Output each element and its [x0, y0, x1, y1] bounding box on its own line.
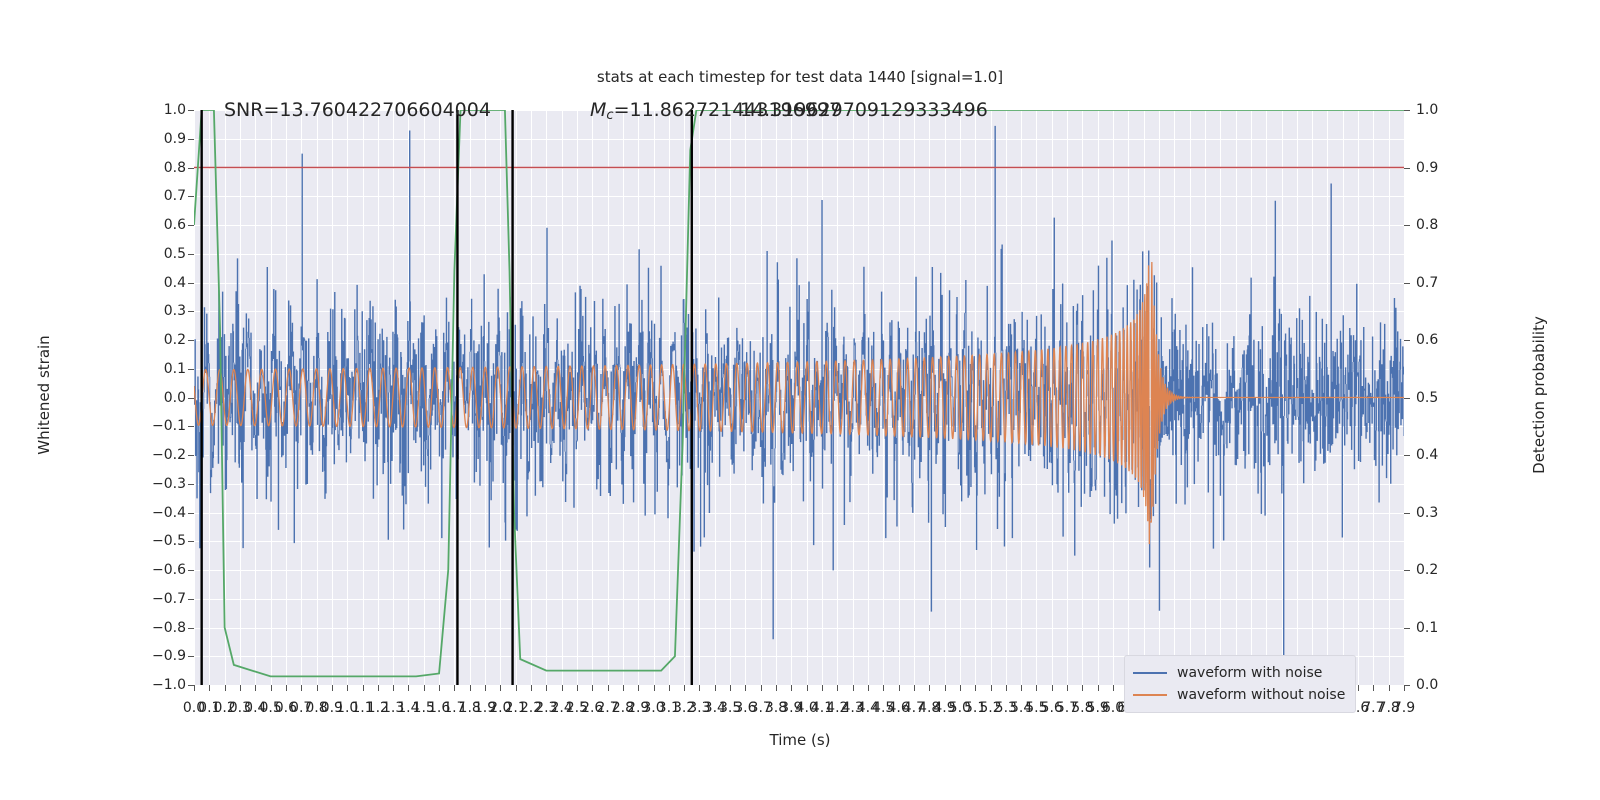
- x-tick-mark: [1113, 685, 1114, 691]
- legend-item-waveform-without-noise: waveform without noise: [1133, 684, 1345, 706]
- y-tick-label-left: −0.2: [152, 447, 186, 463]
- y-tick-label-left: 0.0: [164, 390, 186, 406]
- y-tick-label-right: 0.4: [1416, 447, 1438, 463]
- x-tick-mark: [470, 685, 471, 691]
- x-tick-mark: [669, 685, 670, 691]
- y-tick-label-right: 0.7: [1416, 275, 1438, 291]
- x-tick-mark: [975, 685, 976, 691]
- x-tick-mark: [317, 685, 318, 691]
- y-tick-label-left: 1.0: [164, 102, 186, 118]
- x-tick-mark: [562, 685, 563, 691]
- x-tick-mark: [378, 685, 379, 691]
- y-tick-mark: [1404, 283, 1410, 284]
- x-axis-label: Time (s): [0, 731, 1600, 749]
- x-tick-mark: [914, 685, 915, 691]
- plot-canvas: [194, 110, 1404, 685]
- y-tick-mark: [188, 541, 194, 542]
- x-tick-mark: [991, 685, 992, 691]
- legend-swatch-orange-line-icon: [1133, 694, 1167, 696]
- x-tick-mark: [577, 685, 578, 691]
- x-tick-mark: [654, 685, 655, 691]
- x-tick-mark: [301, 685, 302, 691]
- mc-subscript: c: [606, 108, 613, 123]
- y-tick-mark: [188, 455, 194, 456]
- y-tick-label-left: −0.5: [152, 533, 186, 549]
- y-tick-label-left: −0.7: [152, 591, 186, 607]
- x-tick-mark: [638, 685, 639, 691]
- y-axis-right-label: Detection probability: [1530, 265, 1548, 525]
- y-tick-label-left: −1.0: [152, 677, 186, 693]
- y-tick-label-right: 1.0: [1416, 102, 1438, 118]
- x-tick-mark: [363, 685, 364, 691]
- y-tick-mark: [1404, 398, 1410, 399]
- y-tick-label-left: 0.8: [164, 160, 186, 176]
- noise-trace: [194, 126, 1404, 685]
- x-tick-mark: [791, 685, 792, 691]
- y-tick-mark: [188, 513, 194, 514]
- y-tick-label-left: −0.9: [152, 648, 186, 664]
- y-tick-label-left: 0.9: [164, 131, 186, 147]
- y-tick-mark: [1404, 168, 1410, 169]
- x-tick-mark: [761, 685, 762, 691]
- x-tick-mark: [546, 685, 547, 691]
- x-tick-mark: [868, 685, 869, 691]
- overlap-annotation: 14.319629709129333496: [740, 99, 988, 121]
- x-tick-mark: [745, 685, 746, 691]
- y-tick-mark: [1404, 455, 1410, 456]
- y-tick-label-right: 0.6: [1416, 332, 1438, 348]
- y-tick-label-right: 0.5: [1416, 390, 1438, 406]
- x-tick-mark: [424, 685, 425, 691]
- y-tick-mark: [188, 225, 194, 226]
- x-tick-mark: [1021, 685, 1022, 691]
- x-tick-mark: [286, 685, 287, 691]
- x-tick-mark: [271, 685, 272, 691]
- plot-area: [194, 110, 1404, 685]
- x-tick-mark: [853, 685, 854, 691]
- legend: waveform with noise waveform without noi…: [1124, 655, 1356, 713]
- legend-item-waveform-with-noise: waveform with noise: [1133, 662, 1345, 684]
- x-tick-mark: [715, 685, 716, 691]
- y-tick-label-left: −0.6: [152, 562, 186, 578]
- legend-label: waveform without noise: [1177, 687, 1345, 703]
- x-tick-mark: [592, 685, 593, 691]
- y-tick-label-left: −0.1: [152, 418, 186, 434]
- mc-equals: =: [614, 99, 630, 121]
- y-tick-mark: [188, 426, 194, 427]
- x-tick-mark: [699, 685, 700, 691]
- x-tick-mark: [1373, 685, 1374, 691]
- x-tick-mark: [929, 685, 930, 691]
- x-tick-mark: [485, 685, 486, 691]
- y-tick-label-right: 0.1: [1416, 620, 1438, 636]
- x-tick-mark: [608, 685, 609, 691]
- x-tick-mark: [255, 685, 256, 691]
- x-tick-mark: [960, 685, 961, 691]
- y-tick-label-left: 0.4: [164, 275, 186, 291]
- x-tick-mark: [1036, 685, 1037, 691]
- matplotlib-figure: stats at each timestep for test data 144…: [0, 0, 1600, 800]
- x-tick-mark: [454, 685, 455, 691]
- x-tick-mark: [1006, 685, 1007, 691]
- y-tick-mark: [1404, 628, 1410, 629]
- x-tick-mark: [807, 685, 808, 691]
- y-tick-mark: [1404, 513, 1410, 514]
- x-tick-mark: [1082, 685, 1083, 691]
- x-tick-mark: [1052, 685, 1053, 691]
- x-tick-mark: [684, 685, 685, 691]
- y-tick-mark: [188, 656, 194, 657]
- y-tick-label-left: −0.3: [152, 476, 186, 492]
- y-tick-label-left: 0.6: [164, 217, 186, 233]
- y-tick-mark: [188, 283, 194, 284]
- y-tick-mark: [188, 628, 194, 629]
- y-tick-mark: [188, 110, 194, 111]
- y-tick-mark: [188, 254, 194, 255]
- y-tick-label-left: 0.7: [164, 188, 186, 204]
- y-tick-mark: [1404, 570, 1410, 571]
- x-tick-mark: [1404, 685, 1405, 691]
- y-tick-mark: [188, 196, 194, 197]
- y-tick-label-left: 0.2: [164, 332, 186, 348]
- x-tick-mark: [393, 685, 394, 691]
- x-tick-mark: [194, 685, 195, 691]
- y-tick-mark: [188, 369, 194, 370]
- x-tick-mark: [332, 685, 333, 691]
- legend-swatch-blue-line-icon: [1133, 672, 1167, 674]
- x-tick-mark: [531, 685, 532, 691]
- legend-label: waveform with noise: [1177, 665, 1322, 681]
- y-tick-mark: [188, 311, 194, 312]
- y-tick-mark: [188, 398, 194, 399]
- x-tick-mark: [883, 685, 884, 691]
- series-waveform-with-noise: [194, 126, 1404, 685]
- y-tick-mark: [188, 139, 194, 140]
- x-tick-mark: [209, 685, 210, 691]
- x-tick-mark: [347, 685, 348, 691]
- x-tick-mark: [439, 685, 440, 691]
- x-tick-label: 7.9: [1393, 700, 1415, 716]
- y-tick-label-left: 0.3: [164, 303, 186, 319]
- y-tick-mark: [188, 599, 194, 600]
- y-tick-label-left: −0.4: [152, 505, 186, 521]
- y-tick-label-right: 0.9: [1416, 160, 1438, 176]
- x-tick-mark: [516, 685, 517, 691]
- x-tick-mark: [1098, 685, 1099, 691]
- x-tick-mark: [899, 685, 900, 691]
- y-tick-label-right: 0.0: [1416, 677, 1438, 693]
- y-tick-label-left: 0.5: [164, 246, 186, 262]
- y-tick-label-right: 0.8: [1416, 217, 1438, 233]
- x-tick-mark: [1358, 685, 1359, 691]
- x-tick-mark: [730, 685, 731, 691]
- y-tick-mark: [188, 340, 194, 341]
- y-tick-mark: [188, 484, 194, 485]
- page-title: stats at each timestep for test data 144…: [0, 68, 1600, 86]
- x-tick-mark: [1389, 685, 1390, 691]
- y-tick-mark: [1404, 340, 1410, 341]
- snr-annotation: SNR=13.760422706604004: [224, 99, 491, 121]
- y-tick-label-right: 0.3: [1416, 505, 1438, 521]
- y-tick-mark: [1404, 110, 1410, 111]
- y-tick-mark: [1404, 225, 1410, 226]
- x-tick-mark: [776, 685, 777, 691]
- x-tick-mark: [408, 685, 409, 691]
- x-tick-mark: [837, 685, 838, 691]
- x-tick-mark: [822, 685, 823, 691]
- x-tick-mark: [500, 685, 501, 691]
- mc-symbol: M: [590, 99, 606, 121]
- x-tick-mark: [623, 685, 624, 691]
- y-tick-label-right: 0.2: [1416, 562, 1438, 578]
- x-tick-mark: [1067, 685, 1068, 691]
- x-tick-mark: [225, 685, 226, 691]
- x-tick-mark: [945, 685, 946, 691]
- x-tick-mark: [240, 685, 241, 691]
- y-tick-label-left: −0.8: [152, 620, 186, 636]
- y-tick-mark: [188, 168, 194, 169]
- y-tick-mark: [188, 570, 194, 571]
- y-axis-left-label: Whitened strain: [35, 265, 53, 525]
- y-tick-label-left: 0.1: [164, 361, 186, 377]
